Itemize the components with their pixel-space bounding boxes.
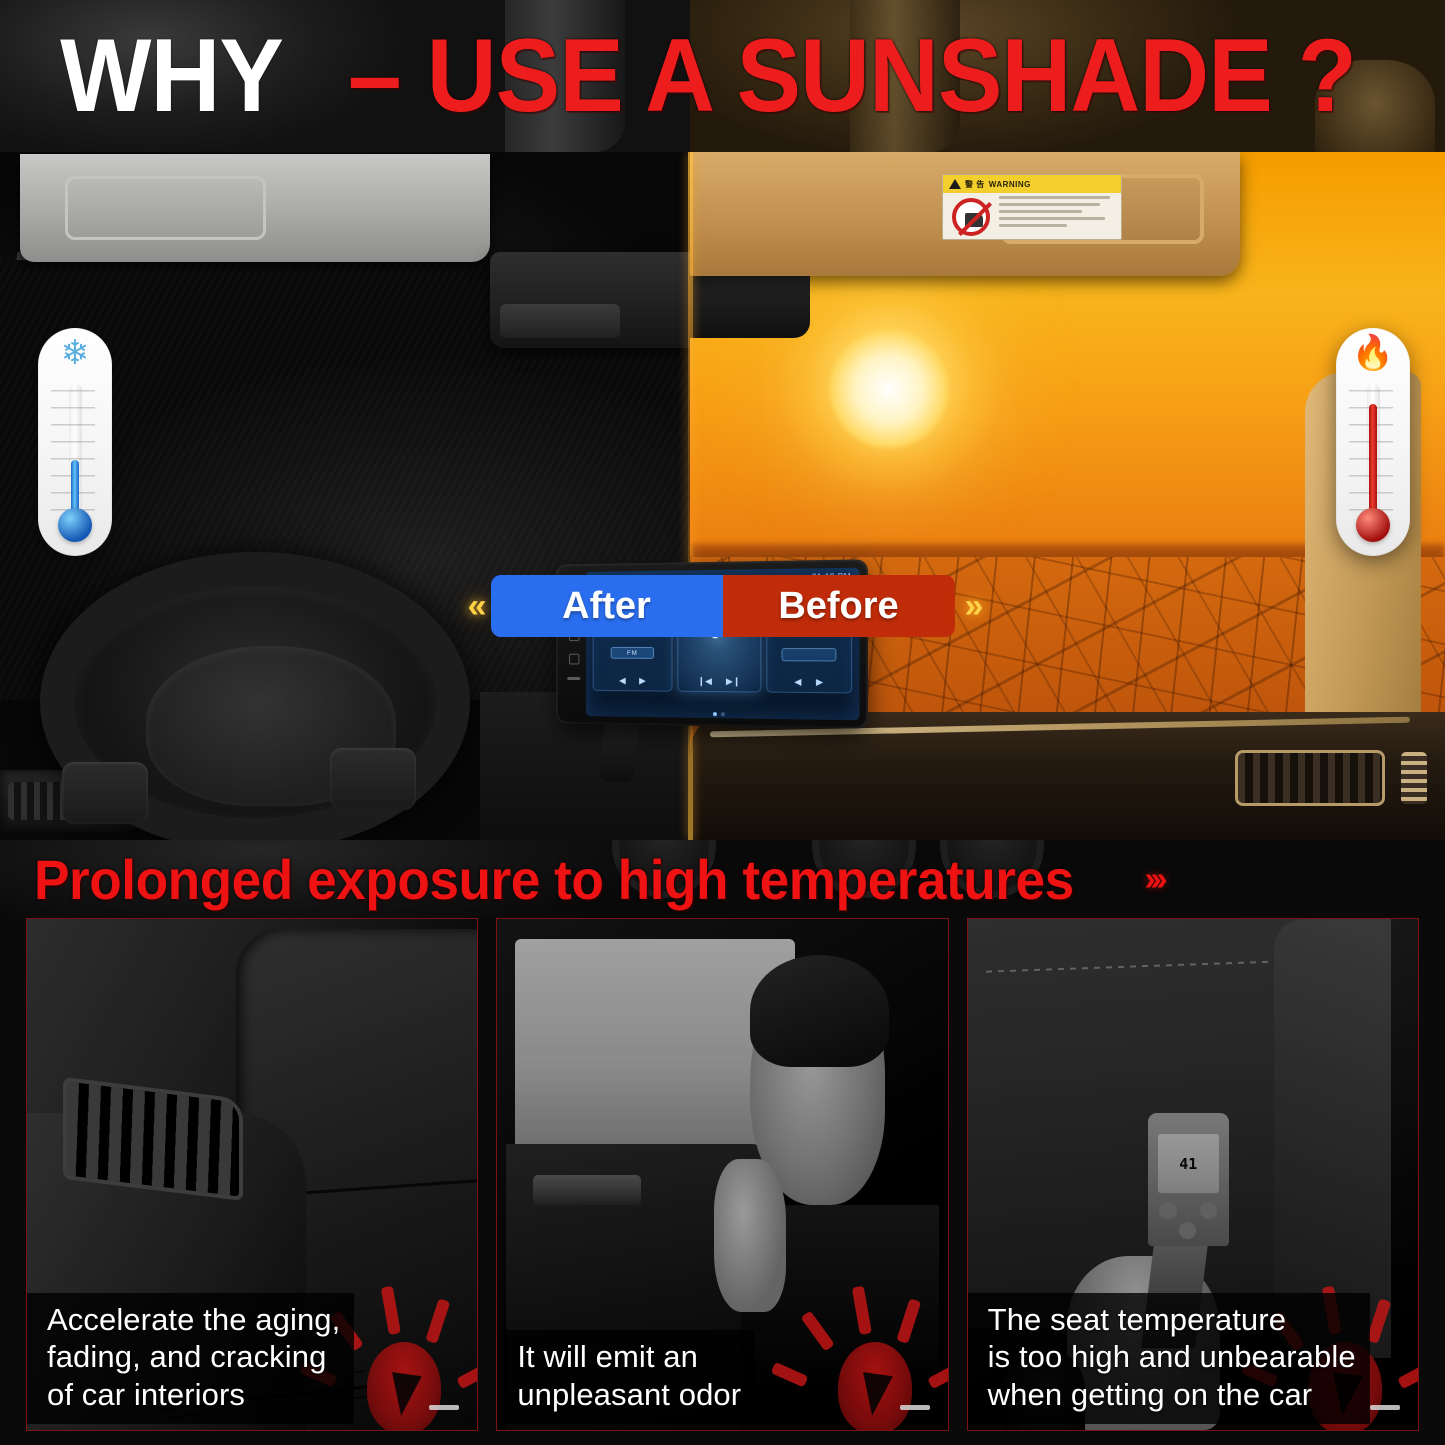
panel-caption: Accelerate the aging, fading, and cracki… [27, 1293, 354, 1424]
seat-setting-pill[interactable] [782, 648, 837, 661]
panel-hot-seat: 41 The seat temperature is too high and … [967, 918, 1419, 1431]
dashboard-right [690, 712, 1445, 840]
ir-thermometer-body: 41 [1148, 1113, 1229, 1246]
subhead-chevrons-icon: ››› [1144, 860, 1162, 898]
vent-shape [63, 1077, 243, 1201]
warning-label-subtitle: 警 告 [965, 179, 985, 190]
dashboard-vent-side [1401, 752, 1427, 804]
panel-aging-interior: Accelerate the aging, fading, and cracki… [26, 918, 478, 1431]
caption-wrapper: The seat temperature is too high and unb… [968, 1293, 1418, 1430]
thermometer-cold: ❄ [38, 328, 112, 556]
snowflake-icon: ❄ [61, 336, 90, 382]
benefit-panels: Accelerate the aging, fading, and cracki… [0, 918, 1445, 1445]
title-word-why: WHY [60, 24, 301, 128]
warning-pictogram [943, 193, 999, 240]
door-handle-shape [533, 1175, 641, 1206]
warning-label-textlines [999, 193, 1121, 240]
subhead: Prolonged exposure to high temperatures … [34, 838, 1162, 920]
page-indicator [586, 710, 860, 718]
badge-after[interactable]: After [491, 575, 723, 637]
warning-label-title: WARNING [989, 180, 1031, 189]
eject-button-icon[interactable] [567, 677, 580, 680]
warning-label-header: 警 告 WARNING [943, 175, 1121, 193]
subhead-text: Prolonged exposure to high temperatures [34, 847, 1074, 912]
panel-caption: It will emit an unpleasant odor [497, 1330, 755, 1424]
page-dot-active [713, 712, 717, 716]
chevron-right-icon: » [965, 587, 978, 626]
flame-icon: 🔥 [1352, 336, 1394, 382]
thermometer-cold-bulb [58, 508, 92, 542]
chevron-left-icon: « [468, 587, 481, 626]
title-phrase-sunshade: – USE A SUNSHADE ? [348, 24, 1356, 128]
hero-comparison: 警 告 WARNING [0, 152, 1445, 840]
panel-underline-mark [1370, 1405, 1400, 1410]
dashboard-vent-right [1235, 750, 1385, 806]
panel-underline-mark [900, 1405, 930, 1410]
media-controls[interactable]: ❙◀ ▶❙ [698, 676, 741, 687]
before-after-badges: « After Before » [0, 570, 1445, 642]
ir-thermometer-buttons [1159, 1202, 1217, 1239]
warning-label-body [943, 193, 1121, 240]
child-seat-glyph [965, 213, 983, 227]
panel-underline-mark [429, 1405, 459, 1410]
sun-visor-left [20, 154, 490, 262]
profile-controls[interactable]: ◀ ▶ [794, 677, 823, 688]
radio-controls[interactable]: ◀ ▶ [619, 675, 646, 686]
menu-button-icon[interactable] [569, 654, 579, 665]
person-hand-shape [714, 1159, 786, 1312]
panel-unpleasant-odor: It will emit an unpleasant odor [496, 918, 948, 1431]
caption-wrapper: Accelerate the aging, fading, and cracki… [27, 1293, 477, 1430]
hero-before-side: 警 告 WARNING [690, 152, 1445, 840]
profile-next-icon[interactable]: ▶ [816, 677, 823, 688]
rearview-mirror-left [490, 252, 690, 348]
sun-icon [830, 330, 948, 448]
page-title: WHY – USE A SUNSHADE ? [0, 0, 1445, 152]
profile-prev-icon[interactable]: ◀ [794, 677, 801, 688]
ir-thermometer-reading: 41 [1158, 1134, 1220, 1192]
warning-triangle-icon [949, 179, 961, 189]
thermometer-hot: 🔥 [1336, 328, 1410, 556]
steering-button-right [330, 748, 416, 810]
visor-warning-label: 警 告 WARNING [942, 174, 1122, 240]
person-hair-shape [750, 955, 890, 1067]
infographic-poster: WHY – USE A SUNSHADE ? [0, 0, 1445, 1445]
steering-button-left [62, 762, 148, 824]
infotainment-stand [599, 720, 638, 782]
panel-caption: The seat temperature is too high and unb… [968, 1293, 1370, 1424]
badge-before[interactable]: Before [723, 575, 955, 637]
media-prev-icon[interactable]: ❙◀ [698, 676, 712, 687]
thermometer-hot-bulb [1356, 508, 1390, 542]
split-divider [688, 152, 693, 840]
next-icon[interactable]: ▶ [639, 676, 646, 687]
header-banner: WHY – USE A SUNSHADE ? [0, 0, 1445, 152]
page-dot [721, 712, 725, 716]
radio-source-pill[interactable]: FM [611, 647, 654, 659]
caption-wrapper: It will emit an unpleasant odor [497, 1330, 947, 1430]
no-child-seat-icon [952, 198, 990, 236]
media-next-icon[interactable]: ▶❙ [726, 676, 741, 687]
prev-icon[interactable]: ◀ [619, 675, 626, 686]
